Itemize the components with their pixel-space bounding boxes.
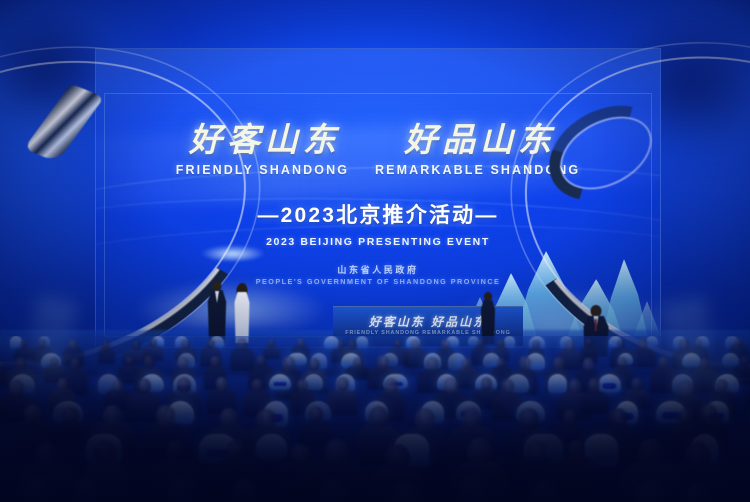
event-photograph: 好客山东 FRIENDLY SHANDONG 好品山东 REMARKABLE S… [0,0,750,502]
photo-grain [0,0,750,502]
